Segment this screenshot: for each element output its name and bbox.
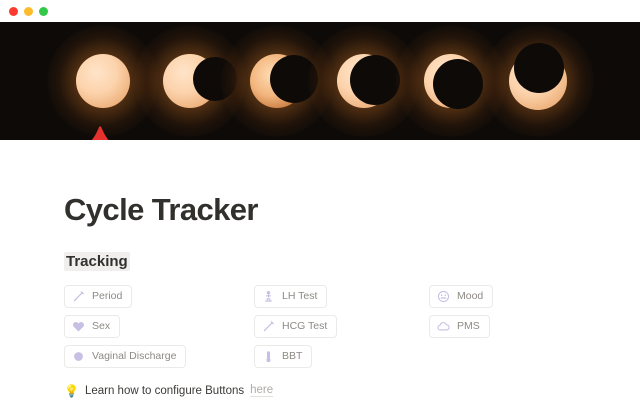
configure-buttons-hint: 💡 Learn how to configure Buttons here bbox=[64, 384, 576, 397]
blood-drop-page-icon[interactable]: 🩸 bbox=[74, 128, 126, 140]
button-label: HCG Test bbox=[282, 320, 327, 333]
configure-buttons-link[interactable]: here bbox=[250, 384, 273, 397]
moon-disc bbox=[250, 54, 304, 108]
button-vaginal-discharge[interactable]: Vaginal Discharge bbox=[64, 345, 186, 368]
window-maximize-button[interactable] bbox=[39, 7, 48, 16]
page-body: Cycle Tracker Tracking Period bbox=[0, 140, 640, 397]
button-period[interactable]: Period bbox=[64, 285, 132, 308]
button-label: Mood bbox=[457, 290, 483, 303]
button-sex[interactable]: Sex bbox=[64, 315, 120, 338]
moon-phase-waning-crescent bbox=[418, 31, 483, 131]
button-hcg-test[interactable]: HCG Test bbox=[254, 315, 337, 338]
moon-disc bbox=[163, 54, 217, 108]
button-bbt[interactable]: BBT bbox=[254, 345, 312, 368]
button-lh-test[interactable]: LH Test bbox=[254, 285, 327, 308]
moon-phase-waning-gibbous bbox=[157, 31, 222, 131]
button-label: BBT bbox=[282, 350, 302, 363]
moon-phase-thin-crescent bbox=[505, 31, 570, 131]
lightbulb-icon: 💡 bbox=[64, 385, 79, 397]
dropper-icon bbox=[72, 290, 85, 303]
page-title[interactable]: Cycle Tracker bbox=[64, 140, 576, 228]
button-mood[interactable]: Mood bbox=[429, 285, 493, 308]
window-titlebar bbox=[0, 0, 640, 22]
moon-disc bbox=[424, 54, 478, 108]
moon-phase-full bbox=[70, 31, 135, 131]
button-label: Sex bbox=[92, 320, 110, 333]
moon-phase-waning-gibbous-2 bbox=[244, 31, 309, 131]
tracking-button-grid: Period LH Test bbox=[64, 285, 576, 368]
cloud-icon bbox=[437, 320, 450, 333]
button-label: Period bbox=[92, 290, 122, 303]
heart-icon bbox=[72, 320, 85, 333]
button-pms[interactable]: PMS bbox=[429, 315, 490, 338]
button-label: PMS bbox=[457, 320, 480, 333]
page-cover-image[interactable]: 🩸 bbox=[0, 22, 640, 140]
window-close-button[interactable] bbox=[9, 7, 18, 16]
moon-disc bbox=[509, 52, 567, 110]
circle-icon bbox=[72, 350, 85, 363]
window-minimize-button[interactable] bbox=[24, 7, 33, 16]
moon-disc bbox=[337, 54, 391, 108]
microscope-icon bbox=[262, 290, 275, 303]
smiley-icon bbox=[437, 290, 450, 303]
dropper-icon bbox=[262, 320, 275, 333]
button-label: LH Test bbox=[282, 290, 317, 303]
hint-text: Learn how to configure Buttons bbox=[85, 385, 244, 397]
moon-phase-last-quarter bbox=[331, 31, 396, 131]
moon-disc bbox=[76, 54, 130, 108]
thermometer-icon bbox=[262, 350, 275, 363]
moon-phase-row bbox=[0, 22, 640, 140]
section-heading-tracking[interactable]: Tracking bbox=[64, 252, 130, 271]
button-label: Vaginal Discharge bbox=[92, 350, 176, 363]
